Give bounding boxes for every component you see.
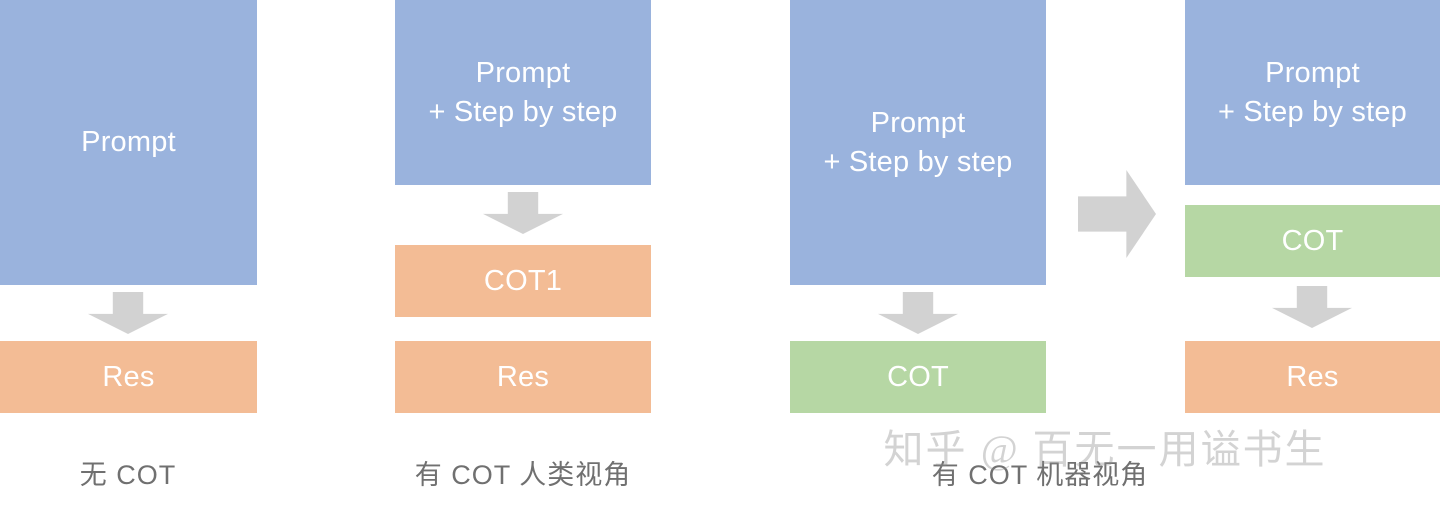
col3-cot-box: COT xyxy=(790,341,1046,413)
col2-prompt-box: Prompt + Step by step xyxy=(395,0,651,185)
col1-caption: 无 COT xyxy=(80,462,177,489)
diagram-canvas: Prompt Res 无 COT Prompt + Step by step C… xyxy=(0,0,1440,514)
col3-to-col4-right-arrow-icon xyxy=(1078,170,1156,258)
col4-cot-box: COT xyxy=(1185,205,1440,277)
col2-down-arrow-icon xyxy=(483,192,563,234)
col3-caption: 有 COT 机器视角 xyxy=(932,462,1149,489)
col1-res-box: Res xyxy=(0,341,257,413)
col1-prompt-box: Prompt xyxy=(0,0,257,285)
col4-down-arrow-icon xyxy=(1272,286,1352,328)
col2-res-box: Res xyxy=(395,341,651,413)
col1-down-arrow-icon xyxy=(88,292,168,334)
col3-prompt-box: Prompt + Step by step xyxy=(790,0,1046,285)
col2-cot1-box: COT1 xyxy=(395,245,651,317)
col4-prompt-box: Prompt + Step by step xyxy=(1185,0,1440,185)
col2-caption: 有 COT 人类视角 xyxy=(415,462,632,489)
col3-down-arrow-icon xyxy=(878,292,958,334)
col4-res-box: Res xyxy=(1185,341,1440,413)
